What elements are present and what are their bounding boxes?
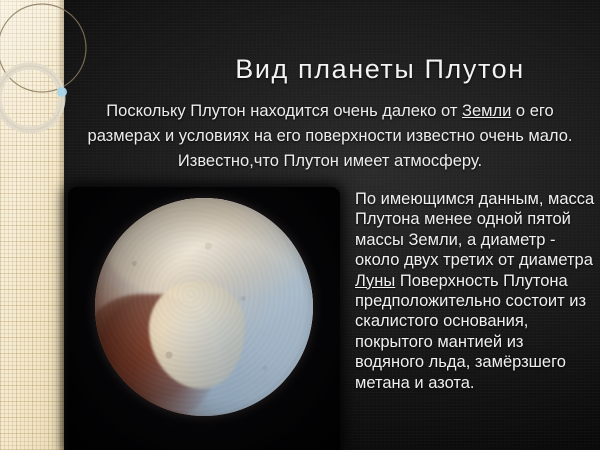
- intro-paragraph: Поскольку Плутон находится очень далеко …: [72, 99, 588, 174]
- pluto-photo: [68, 187, 340, 450]
- intro-link-earth[interactable]: Земли: [462, 102, 511, 120]
- pluto-globe: [95, 198, 313, 416]
- pluto-terminator-shading: [95, 198, 313, 416]
- accent-dot-icon: [57, 87, 67, 97]
- ring-thin-outline-icon: [0, 4, 86, 92]
- presentation-slide: Вид планеты Плутон Поскольку Плутон нахо…: [0, 0, 600, 450]
- body-paragraph: По имеющимся данным, масса Плутона менее…: [355, 189, 595, 393]
- body-text-part-1: По имеющимся данным, масса Плутона менее…: [355, 190, 594, 269]
- slide-title: Вид планеты Плутон: [170, 52, 590, 86]
- body-link-moon[interactable]: Луны: [355, 272, 395, 290]
- intro-text-part-1: Поскольку Плутон находится очень далеко …: [106, 102, 462, 120]
